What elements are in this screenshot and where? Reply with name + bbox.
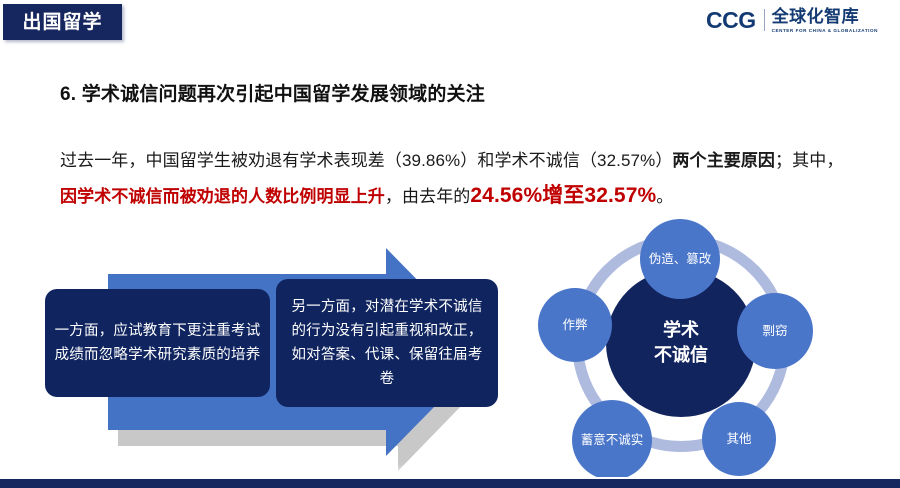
paragraph-segment-red-emphasis: 24.56%增至32.57% — [470, 184, 656, 207]
reason-box-left: 一方面，应试教育下更注重考试成绩而忽略学术研究素质的培养 — [45, 289, 270, 397]
diagram-node-bottom-left: 蓄意不诚实 — [572, 400, 652, 480]
logo-divider — [764, 9, 765, 31]
logo-mark-text: CCG — [706, 8, 756, 32]
ccg-logo: CCG 全球化智库 CENTER FOR CHINA & GLOBALIZATI… — [706, 8, 878, 36]
body-paragraph: 过去一年，中国留学生被劝退有学术表现差（39.86%）和学术不诚信（32.57%… — [60, 143, 860, 214]
paragraph-segment-7: 。 — [656, 187, 673, 206]
diagram-node-bottom-right: 其他 — [702, 402, 776, 476]
section-badge-label: 出国留学 — [22, 13, 102, 32]
diagram-node-right: 剽窃 — [737, 293, 813, 369]
slide-canvas: 出国留学 CCG 全球化智库 CENTER FOR CHINA & GLOBAL… — [0, 0, 900, 488]
diagram-center-line2: 不诚信 — [654, 343, 708, 368]
logo-name-group: 全球化智库 CENTER FOR CHINA & GLOBALIZATION — [772, 8, 878, 34]
diagram-node-top: 伪造、篡改 — [640, 219, 720, 299]
paragraph-segment-red: 因学术不诚信而被劝退的人数比例明显上升 — [60, 187, 385, 206]
section-badge: 出国留学 — [3, 4, 122, 40]
paragraph-segment-5: ，由去年的 — [385, 187, 471, 206]
paragraph-segment-1: 过去一年，中国留学生被劝退有学术表现差（39.86%）和学术不诚信（32.57%… — [60, 151, 672, 170]
footer-rule — [0, 477, 900, 488]
logo-name-cn: 全球化智库 — [772, 8, 878, 26]
paragraph-segment-bold: 两个主要原因 — [672, 151, 775, 170]
academic-dishonesty-diagram: 学术 不诚信 伪造、篡改 剽窃 其他 蓄意不诚实 作弊 — [516, 222, 888, 478]
page-title: 6. 学术诚信问题再次引起中国留学发展领域的关注 — [60, 79, 485, 106]
logo-name-en: CENTER FOR CHINA & GLOBALIZATION — [772, 27, 878, 34]
reasons-arrow-graphic: 一方面，应试教育下更注重考试成绩而忽略学术研究素质的培养 另一方面，对潜在学术不… — [60, 248, 500, 473]
diagram-node-left: 作弊 — [538, 288, 612, 362]
diagram-center-line1: 学术 — [663, 318, 699, 343]
paragraph-segment-3: ；其中， — [775, 151, 843, 170]
reason-box-right: 另一方面，对潜在学术不诚信的行为没有引起重视和改正，如对答案、代课、保留往届考卷 — [276, 279, 498, 407]
